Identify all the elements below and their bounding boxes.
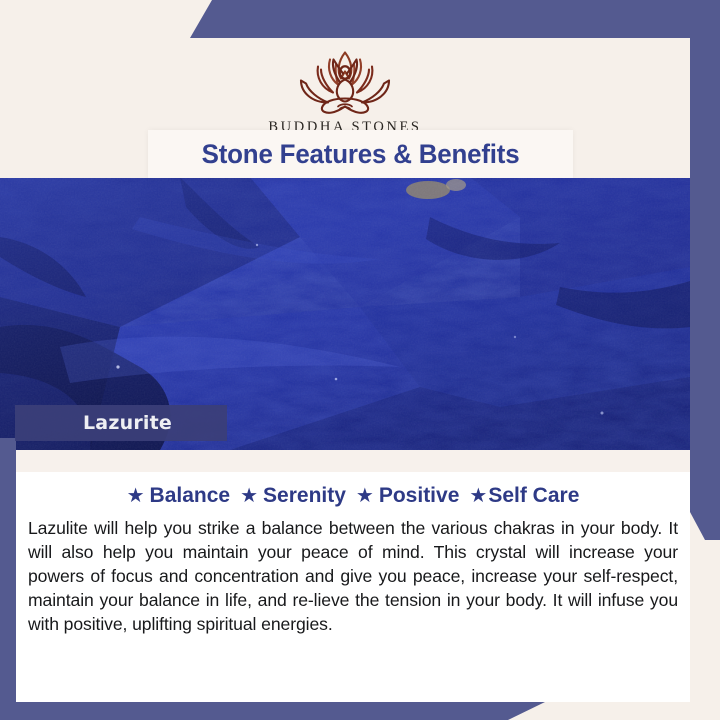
- page-title: Stone Features & Benefits: [202, 139, 520, 170]
- benefit-item-positive: ★ Positive: [356, 484, 459, 508]
- star-icon: ★: [469, 486, 487, 506]
- decorative-right-bar: [690, 0, 720, 540]
- stone-name-banner: Lazurite: [15, 405, 227, 441]
- benefit-label: Self Care: [488, 484, 579, 508]
- star-icon: ★: [127, 486, 145, 506]
- decorative-bottom-bar: [0, 702, 545, 720]
- benefit-item-self-care: ★ Self Care: [469, 484, 579, 508]
- star-icon: ★: [356, 486, 374, 506]
- benefit-label: Positive: [379, 484, 460, 508]
- stone-name: Lazurite: [83, 412, 172, 434]
- decorative-top-right-bar: [190, 0, 720, 38]
- stone-description: Lazulite will help you strike a balance …: [28, 517, 678, 637]
- decorative-left-bar: [0, 438, 16, 720]
- infographic-canvas: BUDDHA STONES Stone Features & Benefits: [0, 0, 720, 720]
- benefit-item-balance: ★ Balance: [127, 484, 230, 508]
- card-top-strip: [16, 450, 690, 472]
- benefit-item-serenity: ★ Serenity: [240, 484, 346, 508]
- benefit-label: Balance: [150, 484, 231, 508]
- description-card: ★ Balance ★ Serenity ★ Positive ★ Self C…: [16, 450, 690, 702]
- brand-logo: BUDDHA STONES: [268, 42, 421, 136]
- benefit-label: Serenity: [263, 484, 346, 508]
- benefits-list: ★ Balance ★ Serenity ★ Positive ★ Self C…: [16, 484, 690, 508]
- lotus-meditation-icon: [270, 42, 420, 118]
- star-icon: ★: [240, 486, 258, 506]
- page-title-plate: Stone Features & Benefits: [148, 130, 573, 178]
